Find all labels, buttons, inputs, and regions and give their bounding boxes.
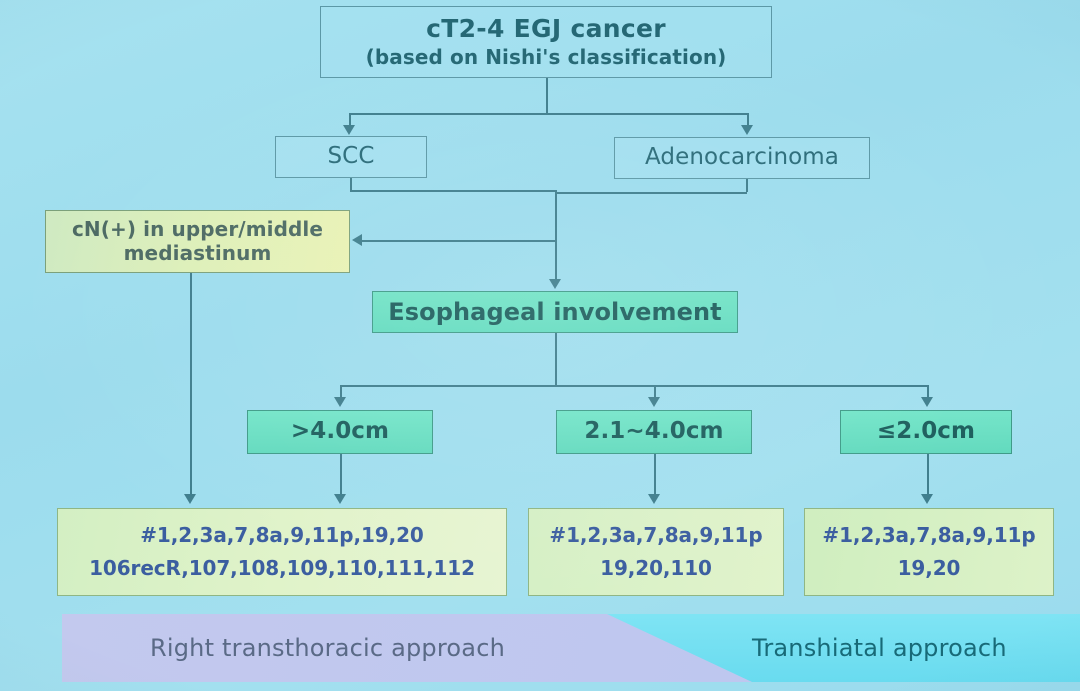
root-title-line1: cT2-4 EGJ cancer — [426, 14, 666, 44]
arrow-cn-to-result1 — [184, 494, 196, 504]
result3-line2: 19,20 — [898, 557, 961, 581]
node-lymph-node-stations-1: #1,2,3a,7,8a,9,11p,19,20 106recR,107,108… — [57, 508, 507, 596]
connector-root-stem — [546, 78, 548, 113]
arrow-to-cn-positive — [352, 234, 362, 246]
result1-line2: 106recR,107,108,109,110,111,112 — [89, 557, 475, 581]
node-lymph-node-stations-3: #1,2,3a,7,8a,9,11p 19,20 — [804, 508, 1054, 596]
node-length-le-2cm: ≤2.0cm — [840, 410, 1012, 454]
arrow-to-length-le2 — [921, 397, 933, 407]
flowchart-slide: cT2-4 EGJ cancer (based on Nishi's class… — [0, 0, 1080, 691]
node-cn-positive-mediastinum: cN(+) in upper/middle mediastinum — [45, 210, 350, 273]
connector-len3-to-result3 — [927, 454, 929, 495]
node-length-greater-than-4cm: >4.0cm — [247, 410, 433, 454]
node-root-diagnosis: cT2-4 EGJ cancer (based on Nishi's class… — [320, 6, 772, 78]
banner-right-label: Transhiatal approach — [752, 614, 1007, 682]
connector-len1-to-result1 — [340, 454, 342, 495]
connector-adeno-stem — [746, 179, 748, 192]
connector-adeno-to-bus — [556, 192, 747, 194]
cn-positive-line2: mediastinum — [124, 242, 272, 266]
node-length-2-to-4cm: 2.1~4.0cm — [556, 410, 752, 454]
result2-line1: #1,2,3a,7,8a,9,11p — [549, 524, 762, 548]
arrow-to-length-2to4 — [648, 397, 660, 407]
scc-label: SCC — [327, 143, 374, 170]
arrow-to-adeno — [741, 125, 753, 135]
connector-cn-to-result1 — [190, 273, 192, 495]
connector-spine-to-cn — [362, 240, 556, 242]
connector-scc-to-bus — [350, 190, 556, 192]
root-title-line2: (based on Nishi's classification) — [366, 46, 727, 70]
arrow-to-scc — [343, 125, 355, 135]
length-le2-label: ≤2.0cm — [877, 418, 975, 445]
result2-line2: 19,20,110 — [600, 557, 712, 581]
connector-eso-stem — [555, 333, 557, 385]
connector-central-spine — [555, 190, 557, 280]
connector-scc-stem — [350, 178, 352, 190]
arrow-len1-to-result1 — [334, 494, 346, 504]
length-2to4-label: 2.1~4.0cm — [584, 418, 723, 445]
arrow-len3-to-result3 — [921, 494, 933, 504]
result1-line1: #1,2,3a,7,8a,9,11p,19,20 — [140, 524, 423, 548]
node-adenocarcinoma: Adenocarcinoma — [614, 137, 870, 179]
node-scc: SCC — [275, 136, 427, 178]
arrow-to-esophageal-involvement — [549, 279, 561, 289]
cn-positive-line1: cN(+) in upper/middle — [72, 218, 323, 242]
node-lymph-node-stations-2: #1,2,3a,7,8a,9,11p 19,20,110 — [528, 508, 784, 596]
connector-len2-to-result2 — [654, 454, 656, 495]
result3-line1: #1,2,3a,7,8a,9,11p — [822, 524, 1035, 548]
arrow-len2-to-result2 — [648, 494, 660, 504]
adenocarcinoma-label: Adenocarcinoma — [645, 144, 839, 171]
banner-left-label: Right transthoracic approach — [150, 614, 505, 682]
length-gt4-label: >4.0cm — [291, 418, 389, 445]
connector-length-bus — [340, 385, 928, 387]
arrow-to-length-gt4 — [334, 397, 346, 407]
esophageal-involvement-label: Esophageal involvement — [388, 298, 722, 326]
surgical-approach-banner: Right transthoracic approach Transhiatal… — [62, 614, 1080, 682]
connector-root-bus — [349, 113, 748, 115]
node-esophageal-involvement: Esophageal involvement — [372, 291, 738, 333]
